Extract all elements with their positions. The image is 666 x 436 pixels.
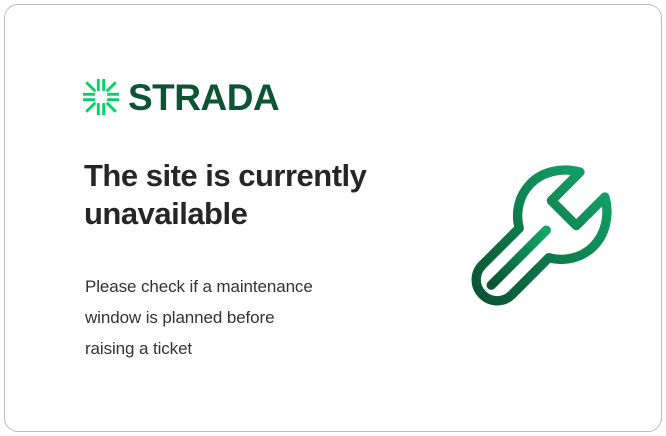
brand-logo: STRADA bbox=[83, 75, 279, 119]
strada-asterisk-icon bbox=[83, 79, 119, 115]
status-card: STRADA The site is currently unavailable… bbox=[4, 4, 662, 432]
description-line: raising a ticket bbox=[85, 333, 415, 364]
page-title: The site is currently unavailable bbox=[84, 157, 424, 233]
page-description: Please check if a maintenance window is … bbox=[85, 271, 415, 364]
brand-wordmark: STRADA bbox=[128, 79, 279, 116]
maintenance-page: STRADA The site is currently unavailable… bbox=[0, 0, 666, 436]
wrench-icon bbox=[457, 155, 623, 321]
description-line: Please check if a maintenance bbox=[85, 271, 415, 302]
description-line: window is planned before bbox=[85, 302, 415, 333]
